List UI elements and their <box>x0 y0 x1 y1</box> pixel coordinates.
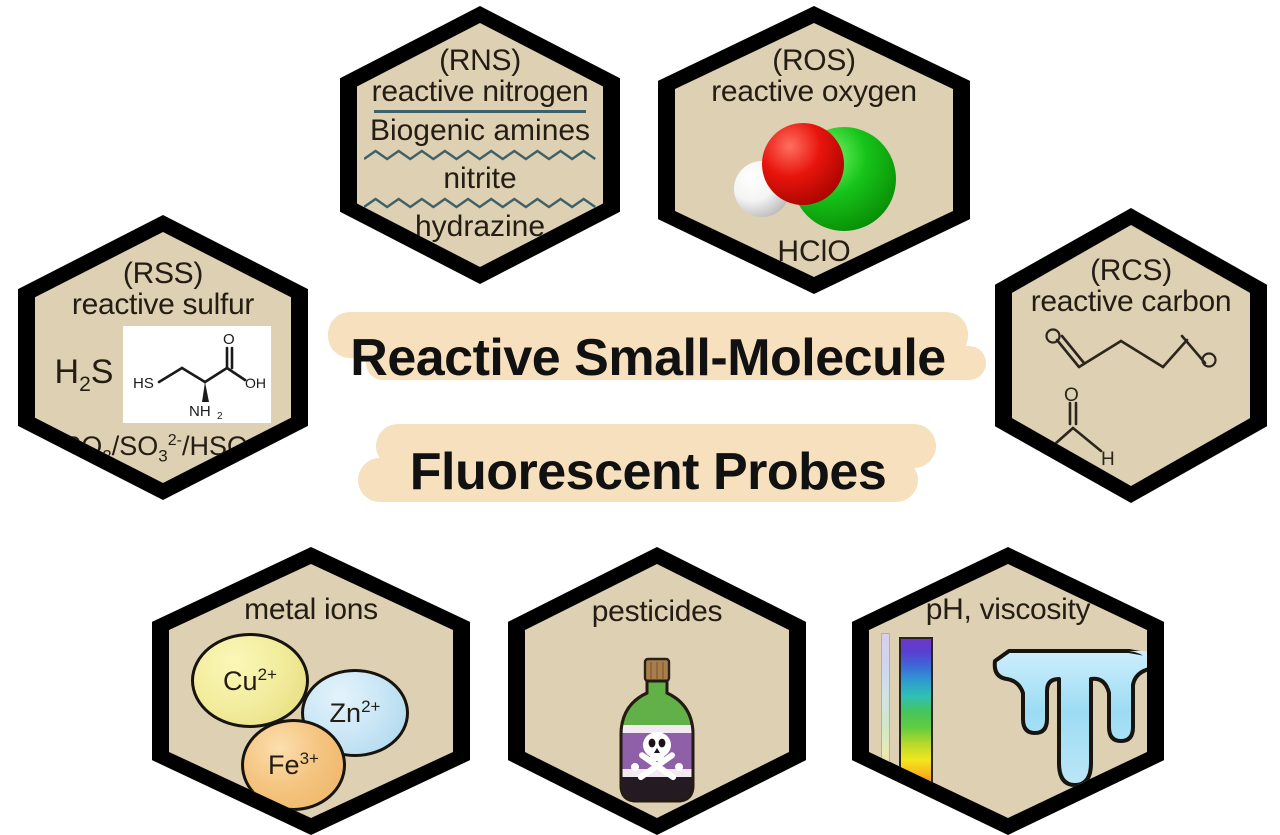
rns-abbrev: (RNS) <box>357 45 603 76</box>
ph-viscosity-title: pH, viscosity <box>869 594 1147 625</box>
svg-text:O: O <box>223 331 235 348</box>
rns-analyte-2: hydrazine <box>415 211 545 243</box>
title-line-2: Fluorescent Probes <box>318 420 978 540</box>
metal-ions-content: metal ions Cu2+ Zn2+ Fe3+ <box>169 564 453 818</box>
hclo-space-filling-model <box>732 113 897 233</box>
ph-viscosity-caption: pH, viscosity <box>869 594 1147 625</box>
formaldehyde-structure <box>1047 403 1101 451</box>
ion-zn-label: Zn2+ <box>330 697 381 729</box>
poison-bottle-icon <box>611 657 703 805</box>
hexagon-metal-ions-inner: metal ions Cu2+ Zn2+ Fe3+ <box>169 564 453 818</box>
rns-divider-wave-1 <box>364 148 595 162</box>
ion-cu-label: Cu2+ <box>223 665 277 697</box>
ion-bubble-fe: Fe3+ <box>241 719 346 811</box>
pesticides-caption: pesticides <box>525 596 789 627</box>
sulfur-oxyanion-formula: SO2/SO32-/HSO3- <box>63 431 263 466</box>
malondialdehyde-structure <box>1057 336 1205 367</box>
rns-caption: (RNS) reactive nitrogen <box>357 45 603 107</box>
rns-divider-straight <box>374 110 586 113</box>
ph-reference-strip-icon <box>881 633 890 801</box>
metal-ions-caption: metal ions <box>169 594 453 625</box>
ion-fe-label: Fe3+ <box>268 749 319 781</box>
rcs-content: (RCS) reactive carbon <box>1012 225 1250 486</box>
rss-content: (RSS) reactive sulfur H2S <box>35 232 291 483</box>
hexagon-rss-inner: (RSS) reactive sulfur H2S <box>35 232 291 483</box>
rns-divider-wave-2 <box>364 196 595 210</box>
rss-caption: (RSS) reactive sulfur <box>35 258 291 320</box>
rcs-caption: (RCS) reactive carbon <box>1012 255 1250 317</box>
reactive-carbonyl-structures: O H H <box>1017 325 1245 475</box>
hexagon-rns[interactable]: (RNS) reactive nitrogen Biogenic amines … <box>340 6 620 284</box>
rns-content: (RNS) reactive nitrogen Biogenic amines … <box>357 23 603 267</box>
cysteine-structure-box: HS O OH NH 2 <box>123 326 271 423</box>
title-line-1: Reactive Small-Molecule <box>318 300 978 420</box>
hexagon-ros-inner: (ROS) reactive oxygen HClO <box>675 23 953 277</box>
hexagon-ph-viscosity[interactable]: pH, viscosity <box>852 547 1164 835</box>
bottle-liquid <box>621 777 693 801</box>
svg-text:2: 2 <box>217 411 223 420</box>
hexagon-rns-inner: (RNS) reactive nitrogen Biogenic amines … <box>357 23 603 267</box>
title-text-1: Reactive Small-Molecule <box>318 328 978 388</box>
rns-analyte-1: nitrite <box>443 163 516 195</box>
formaldehyde-h-left-label: H <box>1029 449 1043 470</box>
formaldehyde-o-label: O <box>1064 385 1079 406</box>
svg-text:NH: NH <box>189 403 211 420</box>
rss-species-row: H2S <box>35 326 291 423</box>
svg-text:HS: HS <box>133 375 154 392</box>
ion-bubble-cu: Cu2+ <box>191 633 309 728</box>
ph-viscosity-icons <box>869 625 1147 818</box>
rns-name: reactive nitrogen <box>357 76 603 107</box>
hexagon-ros[interactable]: (ROS) reactive oxygen HClO <box>658 6 970 294</box>
ros-name: reactive oxygen <box>675 76 953 107</box>
rcs-name: reactive carbon <box>1012 286 1250 317</box>
center-title: Reactive Small-Molecule Fluorescent Prob… <box>318 300 978 540</box>
ros-caption: (ROS) reactive oxygen <box>675 45 953 107</box>
cysteine-skeletal-formula: HS O OH NH 2 <box>127 330 267 420</box>
metal-ions-title: metal ions <box>169 594 453 625</box>
ion-cluster: Cu2+ Zn2+ Fe3+ <box>169 627 453 807</box>
hexagon-ph-viscosity-inner: pH, viscosity <box>869 564 1147 818</box>
hexagon-rss[interactable]: (RSS) reactive sulfur H2S <box>18 215 308 500</box>
pesticides-content: pesticides <box>525 564 789 818</box>
oxygen-atom-sphere <box>762 123 844 205</box>
ros-content: (ROS) reactive oxygen HClO <box>675 23 953 277</box>
ros-abbrev: (ROS) <box>675 45 953 76</box>
hexagon-pesticides-inner: pesticides <box>525 564 789 818</box>
ph-viscosity-content: pH, viscosity <box>869 564 1147 818</box>
viscous-drip-icon <box>989 645 1147 795</box>
svg-text:OH: OH <box>245 375 266 391</box>
figure-canvas: (RNS) reactive nitrogen Biogenic amines … <box>0 0 1280 835</box>
hexagon-rcs-inner: (RCS) reactive carbon <box>1012 225 1250 486</box>
ph-color-scale-icon <box>899 637 933 800</box>
formaldehyde-h-right-label: H <box>1101 449 1115 470</box>
h2s-label: H2S <box>55 353 114 397</box>
rcs-abbrev: (RCS) <box>1012 255 1250 286</box>
rns-analyte-0: Biogenic amines <box>370 115 590 147</box>
poison-bottle-svg <box>611 657 703 805</box>
hexagon-metal-ions[interactable]: metal ions Cu2+ Zn2+ Fe3+ <box>152 547 470 835</box>
rss-abbrev: (RSS) <box>35 258 291 289</box>
pesticides-title: pesticides <box>525 596 789 627</box>
hexagon-rcs[interactable]: (RCS) reactive carbon <box>995 208 1267 503</box>
title-text-2: Fluorescent Probes <box>318 442 978 502</box>
rss-name: reactive sulfur <box>35 289 291 320</box>
hexagon-pesticides[interactable]: pesticides <box>508 547 806 835</box>
hclo-label: HClO <box>777 235 850 269</box>
